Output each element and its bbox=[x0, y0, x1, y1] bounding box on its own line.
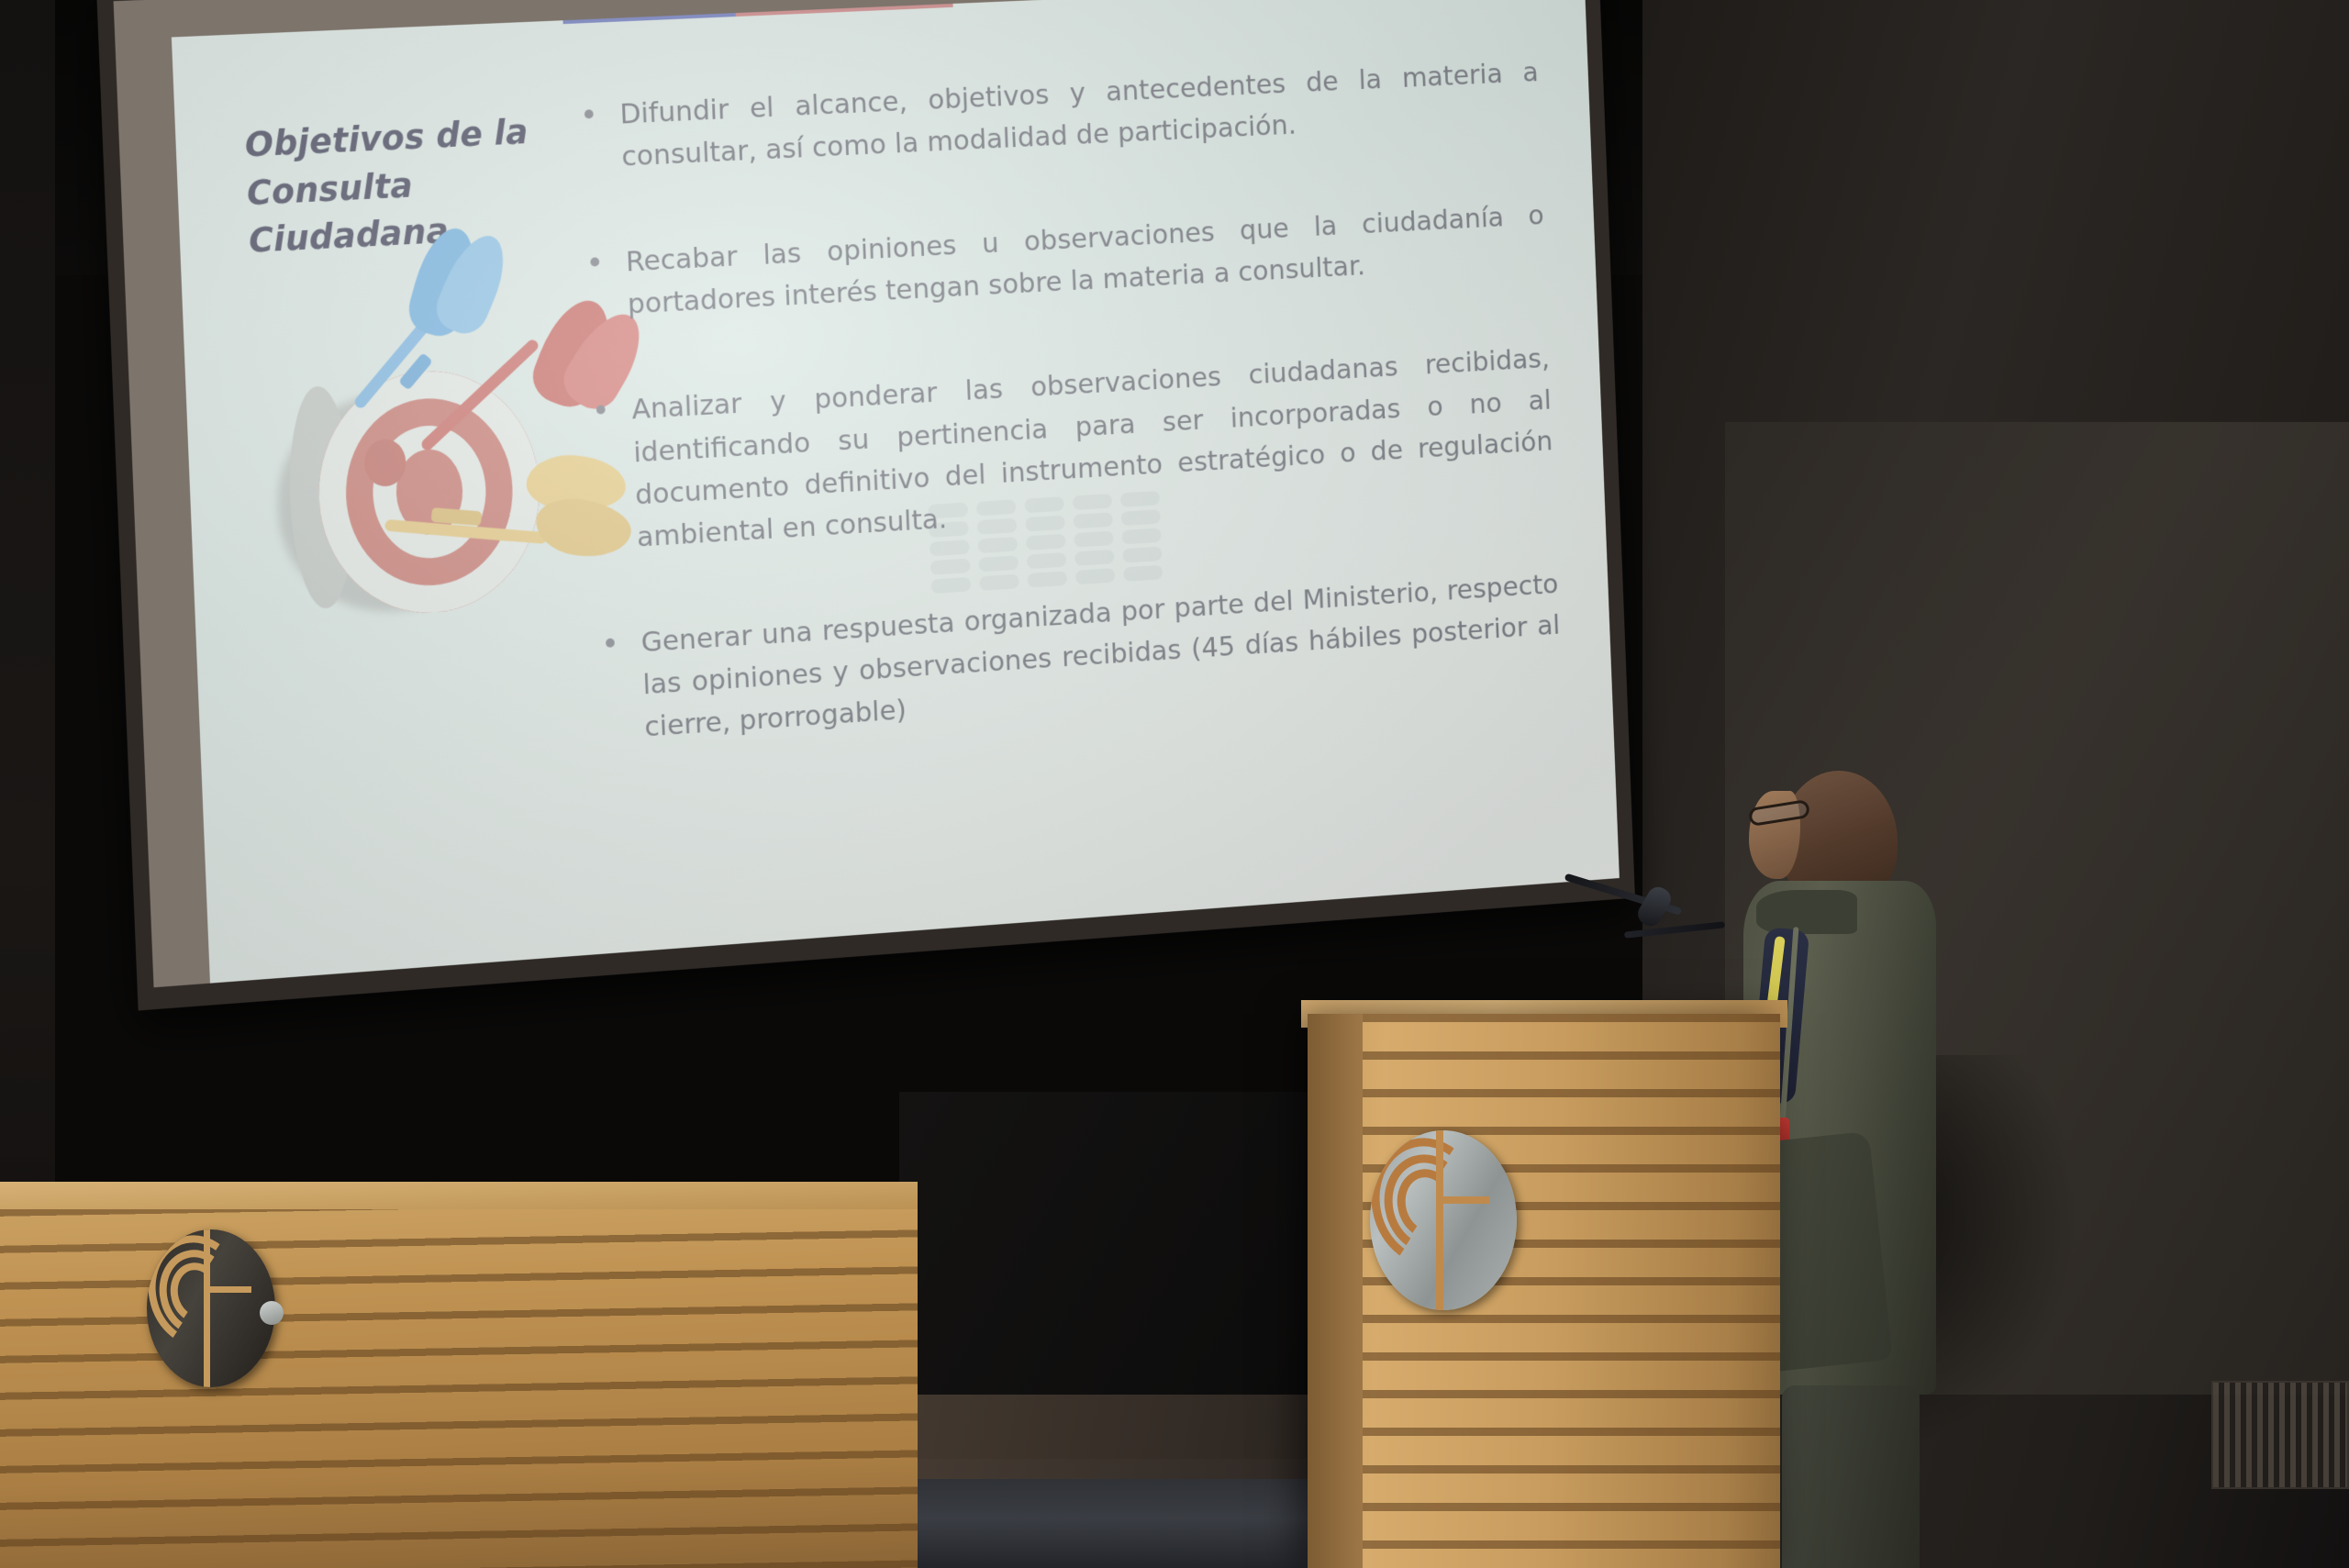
presenter-collar bbox=[1756, 890, 1857, 934]
projection-screen: Objetivos de la Consulta Ciudadana bbox=[96, 0, 1663, 1049]
bullet-dot-icon bbox=[590, 258, 599, 267]
bullet-dot-icon bbox=[596, 406, 606, 415]
podium-slats bbox=[1308, 1014, 1780, 1568]
podium-side-panel bbox=[1308, 1014, 1363, 1568]
bullet-text: Recabar las opiniones u observaciones qu… bbox=[625, 200, 1544, 321]
bullet-text: Analizar y ponderar las observaciones ci… bbox=[631, 343, 1553, 554]
bench-slats bbox=[0, 1209, 918, 1568]
bench-emblem-icon bbox=[147, 1229, 275, 1387]
bullet-text: Difundir el alcance, objetivos y anteced… bbox=[619, 56, 1539, 172]
presentation-slide: Objetivos de la Consulta Ciudadana bbox=[172, 0, 1620, 987]
auditorium-scene: Objetivos de la Consulta Ciudadana bbox=[0, 0, 2349, 1568]
slide-title-line-1: Objetivos de la Consulta bbox=[244, 108, 552, 218]
slide-bullet-item: Generar una respuesta organizada por par… bbox=[591, 563, 1563, 752]
podium-front-panel bbox=[1308, 1014, 1780, 1568]
wall-vent-grille bbox=[2211, 1381, 2349, 1489]
slide-bullet-item: Difundir el alcance, objetivos y anteced… bbox=[570, 52, 1541, 182]
bench-knob bbox=[260, 1301, 284, 1325]
accent-bar-red bbox=[734, 0, 953, 17]
slide-accent-bar bbox=[562, 0, 563, 24]
slide-bullet-item: Recabar las opiniones u observaciones qu… bbox=[575, 195, 1546, 329]
accent-bar-blue bbox=[562, 0, 736, 24]
podium-emblem-icon bbox=[1370, 1130, 1517, 1310]
stage-edge bbox=[853, 1395, 1330, 1479]
bench-front-panel bbox=[0, 1209, 918, 1568]
screen-surface: Objetivos de la Consulta Ciudadana bbox=[114, 0, 1620, 987]
bullet-text: Generar una respuesta organizada por par… bbox=[640, 568, 1561, 743]
bullet-dot-icon bbox=[606, 638, 615, 647]
slide-bullet-list: Difundir el alcance, objetivos y anteced… bbox=[567, 3, 1564, 815]
bullet-dot-icon bbox=[584, 109, 594, 118]
presenter-legs bbox=[1782, 1385, 1920, 1568]
slide-bullet-item: Analizar y ponderar las observaciones ci… bbox=[582, 339, 1555, 562]
